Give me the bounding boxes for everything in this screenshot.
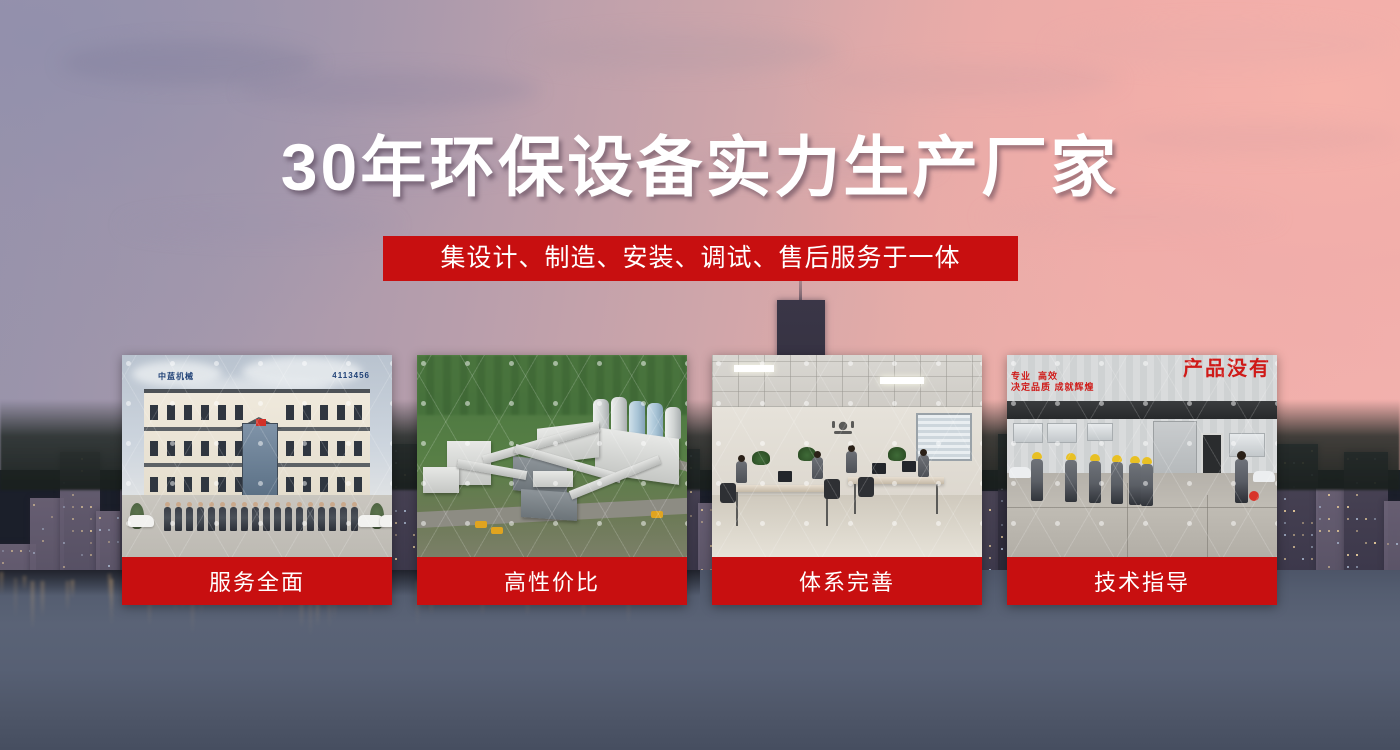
cloud xyxy=(1050,20,1390,70)
feature-card-system[interactable]: 体系完善 xyxy=(712,355,982,605)
worker-figure xyxy=(1031,459,1043,501)
staff-figure xyxy=(274,507,281,531)
cloud xyxy=(820,60,1120,100)
water-reflection xyxy=(71,580,74,598)
company-office-building-staff-photo: 中蓝机械 4113456 xyxy=(122,355,392,557)
card-caption: 技术指导 xyxy=(1007,557,1277,605)
cloud xyxy=(120,210,400,240)
water-reflection xyxy=(14,578,17,618)
staff-figure xyxy=(230,507,237,531)
worker-figure xyxy=(1129,463,1141,505)
staff-figure xyxy=(186,507,193,531)
water-reflection xyxy=(31,581,34,630)
aerial-factory-plant-photo xyxy=(417,355,687,557)
staff-figure xyxy=(208,507,215,531)
subtitle-banner: 集设计、制造、安装、调试、售后服务于一体 xyxy=(383,236,1018,281)
staff-figure xyxy=(263,507,270,531)
water-reflection xyxy=(23,576,26,590)
feature-card-service[interactable]: 中蓝机械 4113456 服务全面 xyxy=(122,355,392,605)
cloud xyxy=(520,30,840,74)
feature-card-list: 中蓝机械 4113456 服务全面 xyxy=(122,355,1278,605)
staff-figure xyxy=(318,507,325,531)
wall-decal-icon xyxy=(830,417,856,439)
staff-figure xyxy=(296,507,303,531)
page-title: 30年环保设备实力生产厂家 xyxy=(0,134,1400,200)
cloud xyxy=(240,70,540,110)
staff-figure xyxy=(175,507,182,531)
cloud xyxy=(980,200,1280,234)
staff-figure xyxy=(252,507,259,531)
card-caption: 服务全面 xyxy=(122,557,392,605)
staff-figure xyxy=(219,507,226,531)
staff-figure xyxy=(197,507,204,531)
card-caption: 高性价比 xyxy=(417,557,687,605)
photo-factory-slogan: 专业 高效决定品质 成就辉煌 xyxy=(1011,371,1095,393)
photo-factory-sign: 产品没有 xyxy=(1183,359,1271,379)
subtitle-text: 集设计、制造、安装、调试、售后服务于一体 xyxy=(440,246,960,271)
staff-figure xyxy=(351,507,358,531)
workers-training-factory-photo: 产品没有 专业 高效决定品质 成就辉煌 xyxy=(1007,355,1277,557)
feature-card-value[interactable]: 高性价比 xyxy=(417,355,687,605)
worker-figure xyxy=(1111,462,1123,504)
staff-figure xyxy=(329,507,336,531)
office-interior-staff-photo xyxy=(712,355,982,557)
photo-company-sign: 中蓝机械 xyxy=(158,371,194,382)
water-reflection xyxy=(0,572,3,595)
staff-figure xyxy=(307,507,314,531)
staff-figure xyxy=(241,507,248,531)
water-reflection xyxy=(41,581,44,617)
staff-figure xyxy=(164,507,171,531)
card-caption: 体系完善 xyxy=(712,557,982,605)
worker-figure xyxy=(1065,460,1077,502)
promo-banner: 30年环保设备实力生产厂家 集设计、制造、安装、调试、售后服务于一体 xyxy=(0,0,1400,750)
staff-figure xyxy=(340,507,347,531)
photo-phone-number: 4113456 xyxy=(332,371,370,380)
water-reflection xyxy=(66,581,69,612)
feature-card-guidance[interactable]: 产品没有 专业 高效决定品质 成就辉煌 xyxy=(1007,355,1277,605)
staff-figure xyxy=(285,507,292,531)
water-reflection xyxy=(110,579,113,611)
